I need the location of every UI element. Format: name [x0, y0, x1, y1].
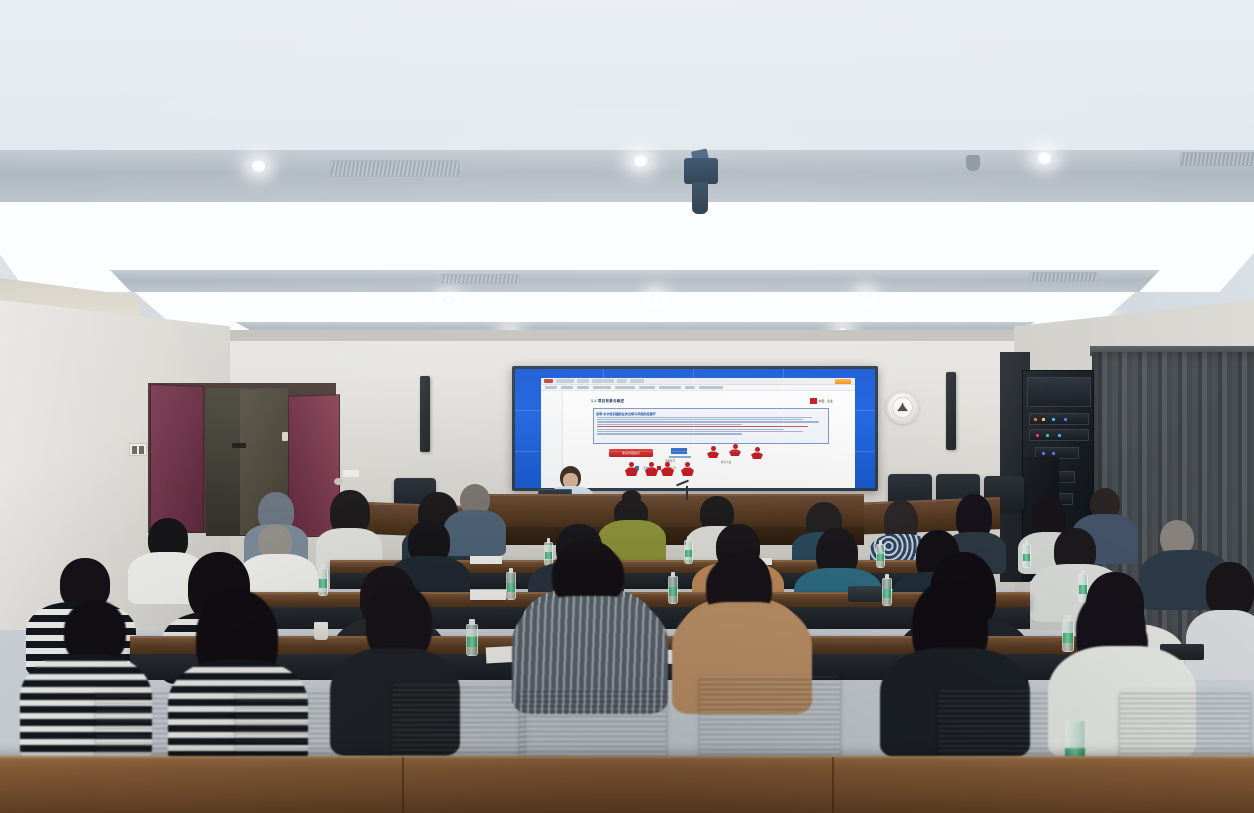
rack-unit: [1029, 413, 1089, 425]
desk-seam: [402, 757, 404, 813]
downlight-icon: [250, 160, 267, 172]
slide-logo: 中国 · 企业: [810, 398, 833, 404]
door-handle[interactable]: [282, 432, 288, 441]
door-leaf-left[interactable]: [150, 384, 204, 533]
ceiling-beam: [0, 150, 1254, 202]
slide-figure-icon: [707, 446, 719, 458]
water-bottle[interactable]: [466, 624, 478, 656]
slide-figure-icon: [729, 444, 741, 456]
water-bottle[interactable]: [876, 544, 885, 568]
downlight-icon: [860, 292, 871, 300]
speaker-icon: [946, 372, 956, 450]
tablet-device[interactable]: [848, 586, 882, 602]
water-bottle[interactable]: [1062, 620, 1074, 652]
podium-desk: [466, 494, 864, 530]
slide-blue-node-base: [669, 456, 691, 458]
water-bottle[interactable]: [544, 542, 553, 566]
ceiling: [0, 0, 1254, 372]
presentation-window: 1.1 项目背景与概述 中国 · 企业 说明:本次培训围绕业务合规与风险防控展开: [541, 378, 855, 488]
microphone-icon: [686, 486, 688, 500]
paper-handout[interactable]: [470, 590, 506, 600]
ac-vent-icon: [330, 160, 460, 177]
slide-heading: 1.1 项目背景与概述: [591, 399, 837, 404]
wall-plate: [343, 470, 359, 477]
rack-amplifier: [1027, 377, 1091, 407]
ribbon-action-button[interactable]: [835, 379, 851, 384]
camera-icon: [966, 155, 980, 171]
water-bottle[interactable]: [684, 540, 693, 564]
document-ribbon: [541, 378, 855, 385]
slide-callout-heading: 说明:本次培训围绕业务合规与风险防控展开: [596, 411, 828, 416]
desk-seam: [832, 757, 834, 813]
downlight-icon: [1036, 152, 1053, 164]
downlight-icon: [650, 294, 661, 302]
water-bottle[interactable]: [318, 568, 328, 596]
rack-unit: [1029, 429, 1089, 441]
paper-cup[interactable]: [314, 622, 328, 640]
clock-icon: [886, 391, 919, 424]
ac-vent-icon: [1030, 272, 1098, 282]
paper-handout[interactable]: [470, 556, 502, 564]
water-bottle[interactable]: [506, 572, 516, 600]
light-switch-panel[interactable]: [129, 443, 147, 456]
slide-caption-right: 参与人员: [721, 460, 731, 464]
ac-vent-icon: [440, 274, 520, 284]
slide-logo-text: 中国 · 企业: [818, 399, 833, 403]
wall-trim: [150, 330, 1110, 341]
ceiling-beam: [110, 270, 1160, 292]
slide-figure-icon: [751, 447, 763, 459]
projector-icon: [676, 150, 722, 188]
water-bottle[interactable]: [668, 576, 678, 604]
door-handle[interactable]: [334, 478, 343, 485]
ac-vent-icon: [1180, 152, 1254, 166]
water-bottle[interactable]: [1022, 544, 1031, 568]
conference-room-photo: 1.1 项目背景与概述 中国 · 企业 说明:本次培训围绕业务合规与风险防控展开: [0, 0, 1254, 813]
water-bottle[interactable]: [882, 578, 892, 606]
slide-callout-box: 说明:本次培训围绕业务合规与风险防控展开: [593, 408, 829, 444]
speaker-icon: [420, 376, 430, 452]
document-canvas: 1.1 项目背景与概述 中国 · 企业 说明:本次培训围绕业务合规与风险防控展开: [541, 391, 855, 488]
door-plate: [232, 443, 246, 448]
downlight-icon: [632, 155, 649, 167]
logo-mark-icon: [810, 398, 817, 404]
foreground-desk: [0, 756, 1254, 813]
downlight-icon: [443, 296, 454, 304]
